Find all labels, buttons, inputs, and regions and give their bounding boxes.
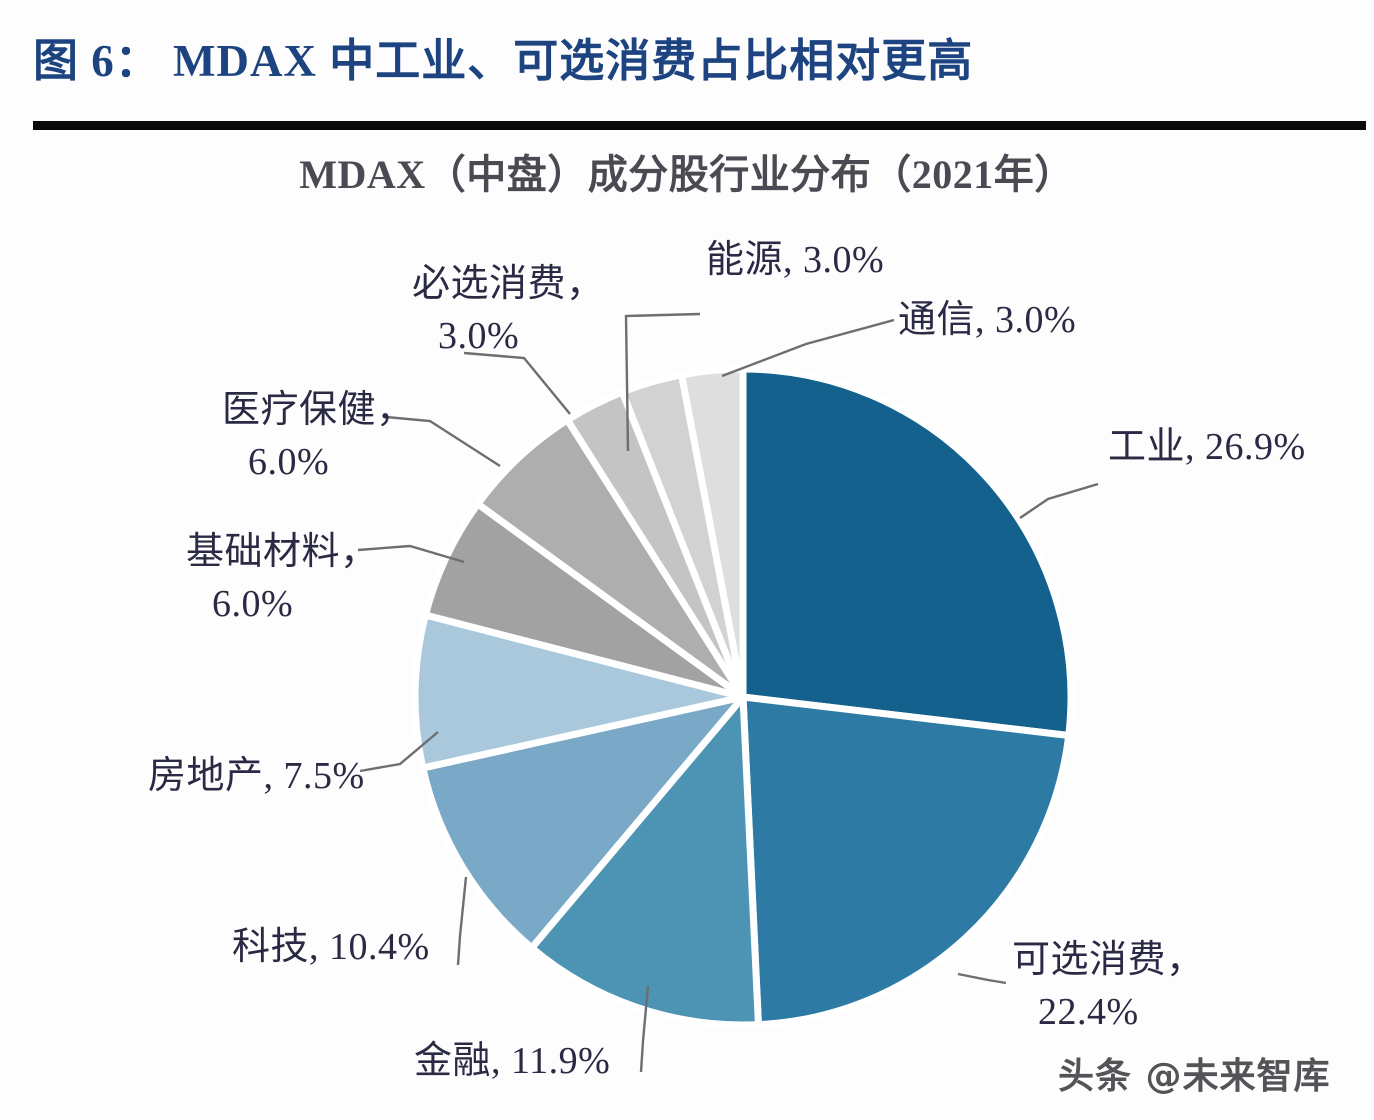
figure-header: 图 6： MDAX 中工业、可选消费占比相对更高 bbox=[33, 34, 1366, 88]
pie-slice-label: 基础材料，6.0% bbox=[186, 531, 379, 625]
pie-leader-line bbox=[958, 974, 1006, 983]
pie-slice-label: 通信, 3.0% bbox=[898, 299, 1076, 341]
pie-slice-label: 可选消费，22.4% bbox=[1012, 939, 1205, 1033]
pie-leader-line bbox=[1020, 484, 1098, 518]
pie-chart-svg: 工业, 26.9%可选消费，22.4%金融, 11.9%科技, 10.4%房地产… bbox=[0, 136, 1374, 1120]
pie-slice[interactable] bbox=[743, 369, 1071, 736]
title-divider bbox=[33, 121, 1366, 130]
pie-slice-label: 房地产, 7.5% bbox=[148, 755, 365, 797]
pie-slice-label: 科技, 10.4% bbox=[232, 926, 430, 968]
pie-leader-line bbox=[464, 353, 570, 414]
pie-slices-group bbox=[415, 369, 1071, 1025]
pie-slice-label: 能源, 3.0% bbox=[706, 239, 884, 281]
pie-slice-label: 必选消费，3.0% bbox=[412, 263, 605, 357]
pie-chart-container: MDAX（中盘）成分股行业分布（2021年） 工业, 26.9%可选消费，22.… bbox=[0, 136, 1374, 1120]
pie-leader-line bbox=[458, 877, 466, 965]
pie-slice-label: 金融, 11.9% bbox=[414, 1040, 610, 1082]
pie-slice-label: 工业, 26.9% bbox=[1108, 426, 1306, 468]
pie-slice-label: 医疗保健，6.0% bbox=[222, 389, 415, 483]
watermark: 头条 @未来智库 bbox=[1058, 1056, 1331, 1098]
page-title: 图 6： MDAX 中工业、可选消费占比相对更高 bbox=[33, 34, 1366, 88]
